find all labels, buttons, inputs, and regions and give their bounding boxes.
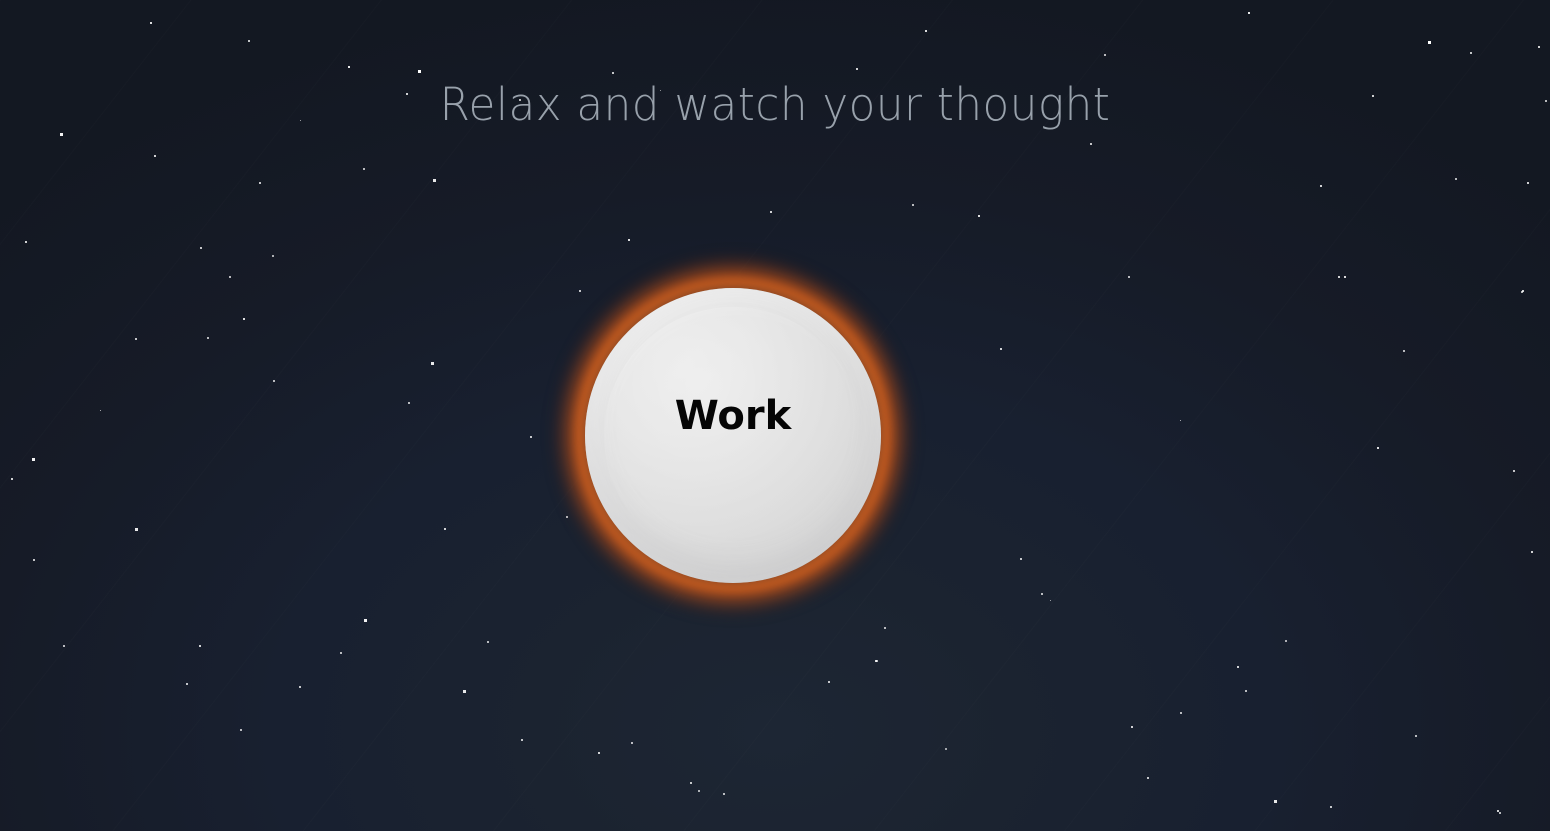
star	[1338, 276, 1340, 278]
star	[135, 528, 138, 531]
star	[240, 729, 242, 731]
star	[925, 30, 927, 32]
star	[1545, 100, 1547, 102]
star	[875, 660, 877, 662]
star	[628, 239, 630, 241]
star	[199, 645, 201, 647]
star	[444, 528, 446, 530]
star	[1128, 276, 1130, 278]
star	[1274, 800, 1277, 803]
star	[229, 276, 231, 278]
star	[348, 66, 350, 68]
star	[1521, 291, 1523, 293]
page-title: Relax and watch your thought	[23, 82, 1527, 127]
star	[150, 22, 152, 24]
star	[1020, 558, 1022, 560]
star	[1330, 806, 1332, 808]
star	[25, 241, 27, 243]
star	[1522, 290, 1524, 292]
star	[363, 168, 365, 170]
star	[1344, 276, 1346, 278]
star	[33, 559, 35, 561]
star	[1531, 551, 1533, 553]
star	[100, 410, 101, 411]
star	[200, 247, 202, 249]
star	[272, 255, 274, 257]
star	[612, 72, 614, 74]
star	[1470, 52, 1472, 54]
star	[698, 790, 700, 792]
star	[876, 660, 878, 662]
star	[243, 318, 245, 320]
star	[259, 182, 261, 184]
star	[1497, 810, 1499, 812]
star	[1180, 712, 1182, 714]
star	[1245, 690, 1247, 692]
star	[418, 70, 421, 73]
star	[579, 290, 581, 292]
star	[340, 652, 342, 654]
star	[1104, 54, 1106, 56]
star	[1538, 46, 1540, 48]
star	[912, 204, 914, 206]
star	[1248, 12, 1250, 14]
star	[273, 380, 275, 382]
star	[1131, 726, 1133, 728]
star	[1527, 182, 1529, 184]
star	[32, 458, 35, 461]
star	[1455, 178, 1457, 180]
star	[408, 402, 410, 404]
star	[135, 338, 137, 340]
star	[463, 690, 466, 693]
star	[770, 211, 772, 213]
star	[828, 681, 830, 683]
star	[364, 619, 367, 622]
space-background: Relax and watch your thought Work	[0, 0, 1550, 831]
star	[433, 179, 436, 182]
star	[487, 641, 489, 643]
star	[154, 155, 156, 157]
star	[248, 40, 250, 42]
star	[1041, 593, 1043, 595]
star	[1237, 666, 1239, 668]
star	[1050, 600, 1051, 601]
star	[884, 627, 886, 629]
star	[1320, 185, 1322, 187]
star	[1428, 41, 1431, 44]
star	[1513, 470, 1515, 472]
star	[978, 215, 980, 217]
star	[856, 68, 858, 70]
star	[1415, 735, 1417, 737]
star	[1090, 143, 1092, 145]
star	[63, 645, 65, 647]
star	[1499, 812, 1501, 814]
star	[945, 748, 947, 750]
star	[690, 782, 692, 784]
star	[631, 742, 633, 744]
star	[1403, 350, 1405, 352]
star	[530, 436, 532, 438]
star	[1147, 777, 1149, 779]
star	[521, 739, 523, 741]
star	[1000, 348, 1002, 350]
star	[299, 686, 301, 688]
star	[723, 793, 725, 795]
star	[1180, 420, 1181, 421]
star	[431, 362, 434, 365]
orb-surface[interactable]: Work	[585, 288, 881, 583]
star	[598, 752, 600, 754]
star	[11, 478, 13, 480]
orb-label: Work	[675, 396, 792, 436]
star	[60, 133, 63, 136]
star	[186, 683, 188, 685]
star	[1377, 447, 1379, 449]
star	[1285, 640, 1287, 642]
star	[207, 337, 209, 339]
